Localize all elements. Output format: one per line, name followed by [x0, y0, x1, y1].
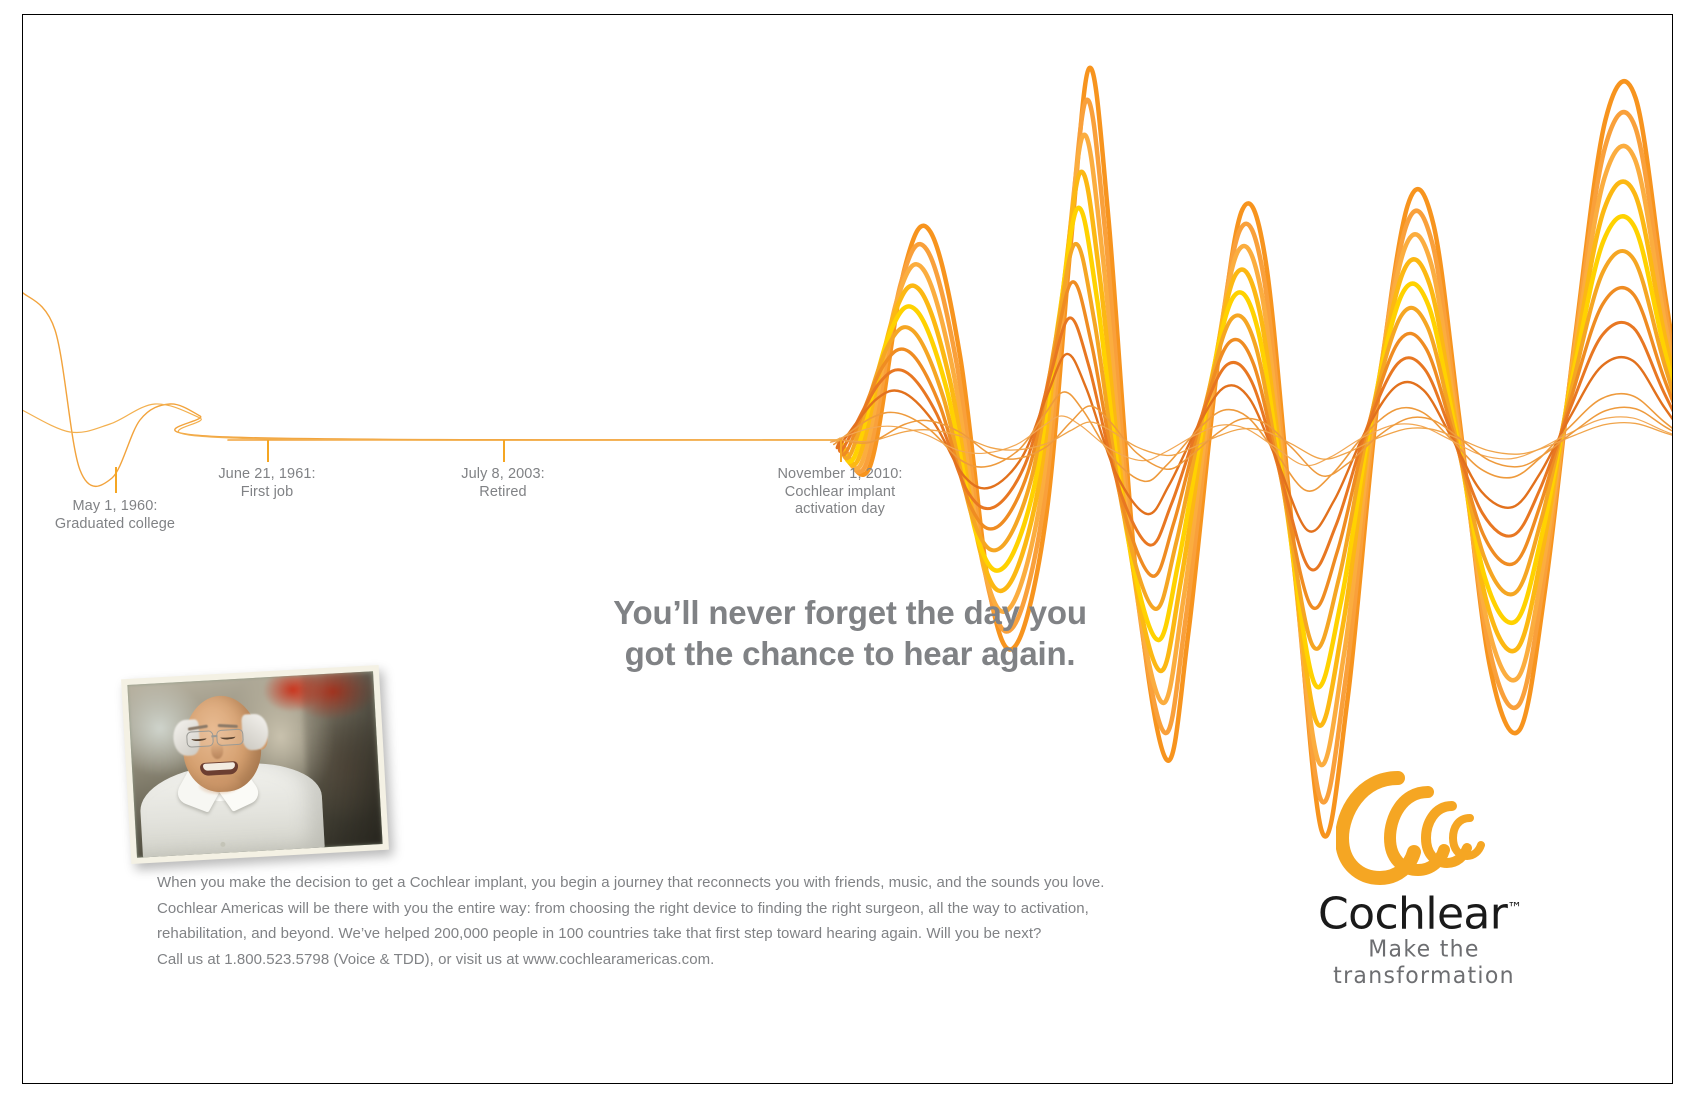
- timeline-description-2: activation day: [795, 501, 885, 517]
- timeline-tick-graduated-college: [115, 467, 117, 493]
- body-copy-line-2: Cochlear Americas will be there with you…: [157, 896, 1177, 922]
- brand-tagline: Make the transformation: [1274, 937, 1574, 990]
- timeline-tick-first-job: [267, 440, 269, 462]
- timeline-date: May 1, 1960:: [72, 498, 157, 514]
- page-title: You’ll never forget the day you got the …: [0, 592, 1700, 674]
- timeline-label-retired: July 8, 2003: Retired: [403, 466, 603, 501]
- brand-wordmark: Cochlear™: [1318, 885, 1548, 938]
- timeline-description: Retired: [479, 484, 526, 500]
- timeline-date: November 1, 2010:: [777, 466, 902, 482]
- photo-mouth: [200, 761, 239, 776]
- timeline-description: First job: [241, 484, 293, 500]
- timeline-date: June 21, 1961:: [218, 466, 315, 482]
- timeline-description: Cochlear implant: [785, 484, 895, 500]
- brand-logo: Cochlear™ Make the transformation: [1318, 770, 1548, 1000]
- body-copy: When you make the decision to get a Coch…: [157, 870, 1177, 972]
- timeline-tick-implant-activation: [840, 440, 842, 462]
- timeline-label-first-job: June 21, 1961: First job: [167, 466, 367, 501]
- photo-image: [127, 671, 382, 857]
- brand-name: Cochlear: [1318, 889, 1507, 940]
- body-copy-line-3: rehabilitation, and beyond. We’ve helped…: [157, 921, 1177, 947]
- headline-line-1: You’ll never forget the day you: [0, 592, 1700, 633]
- photo-teeth: [203, 762, 235, 771]
- timeline-label-graduated-college: May 1, 1960: Graduated college: [15, 498, 215, 533]
- timeline-label-implant-activation: November 1, 2010: Cochlear implant activ…: [740, 466, 940, 519]
- advertisement-page: May 1, 1960: Graduated college June 21, …: [0, 0, 1700, 1100]
- trademark-symbol: ™: [1507, 899, 1522, 917]
- headline-line-2: got the chance to hear again.: [0, 633, 1700, 674]
- testimonial-photo: [121, 665, 389, 864]
- cochlear-swirl-icon: [1336, 770, 1486, 885]
- timeline-tick-retired: [503, 440, 505, 462]
- body-copy-line-1: When you make the decision to get a Coch…: [157, 870, 1177, 896]
- timeline-date: July 8, 2003:: [461, 466, 545, 482]
- body-copy-line-4: Call us at 1.800.523.5798 (Voice & TDD),…: [157, 947, 1177, 973]
- timeline-description: Graduated college: [55, 516, 175, 532]
